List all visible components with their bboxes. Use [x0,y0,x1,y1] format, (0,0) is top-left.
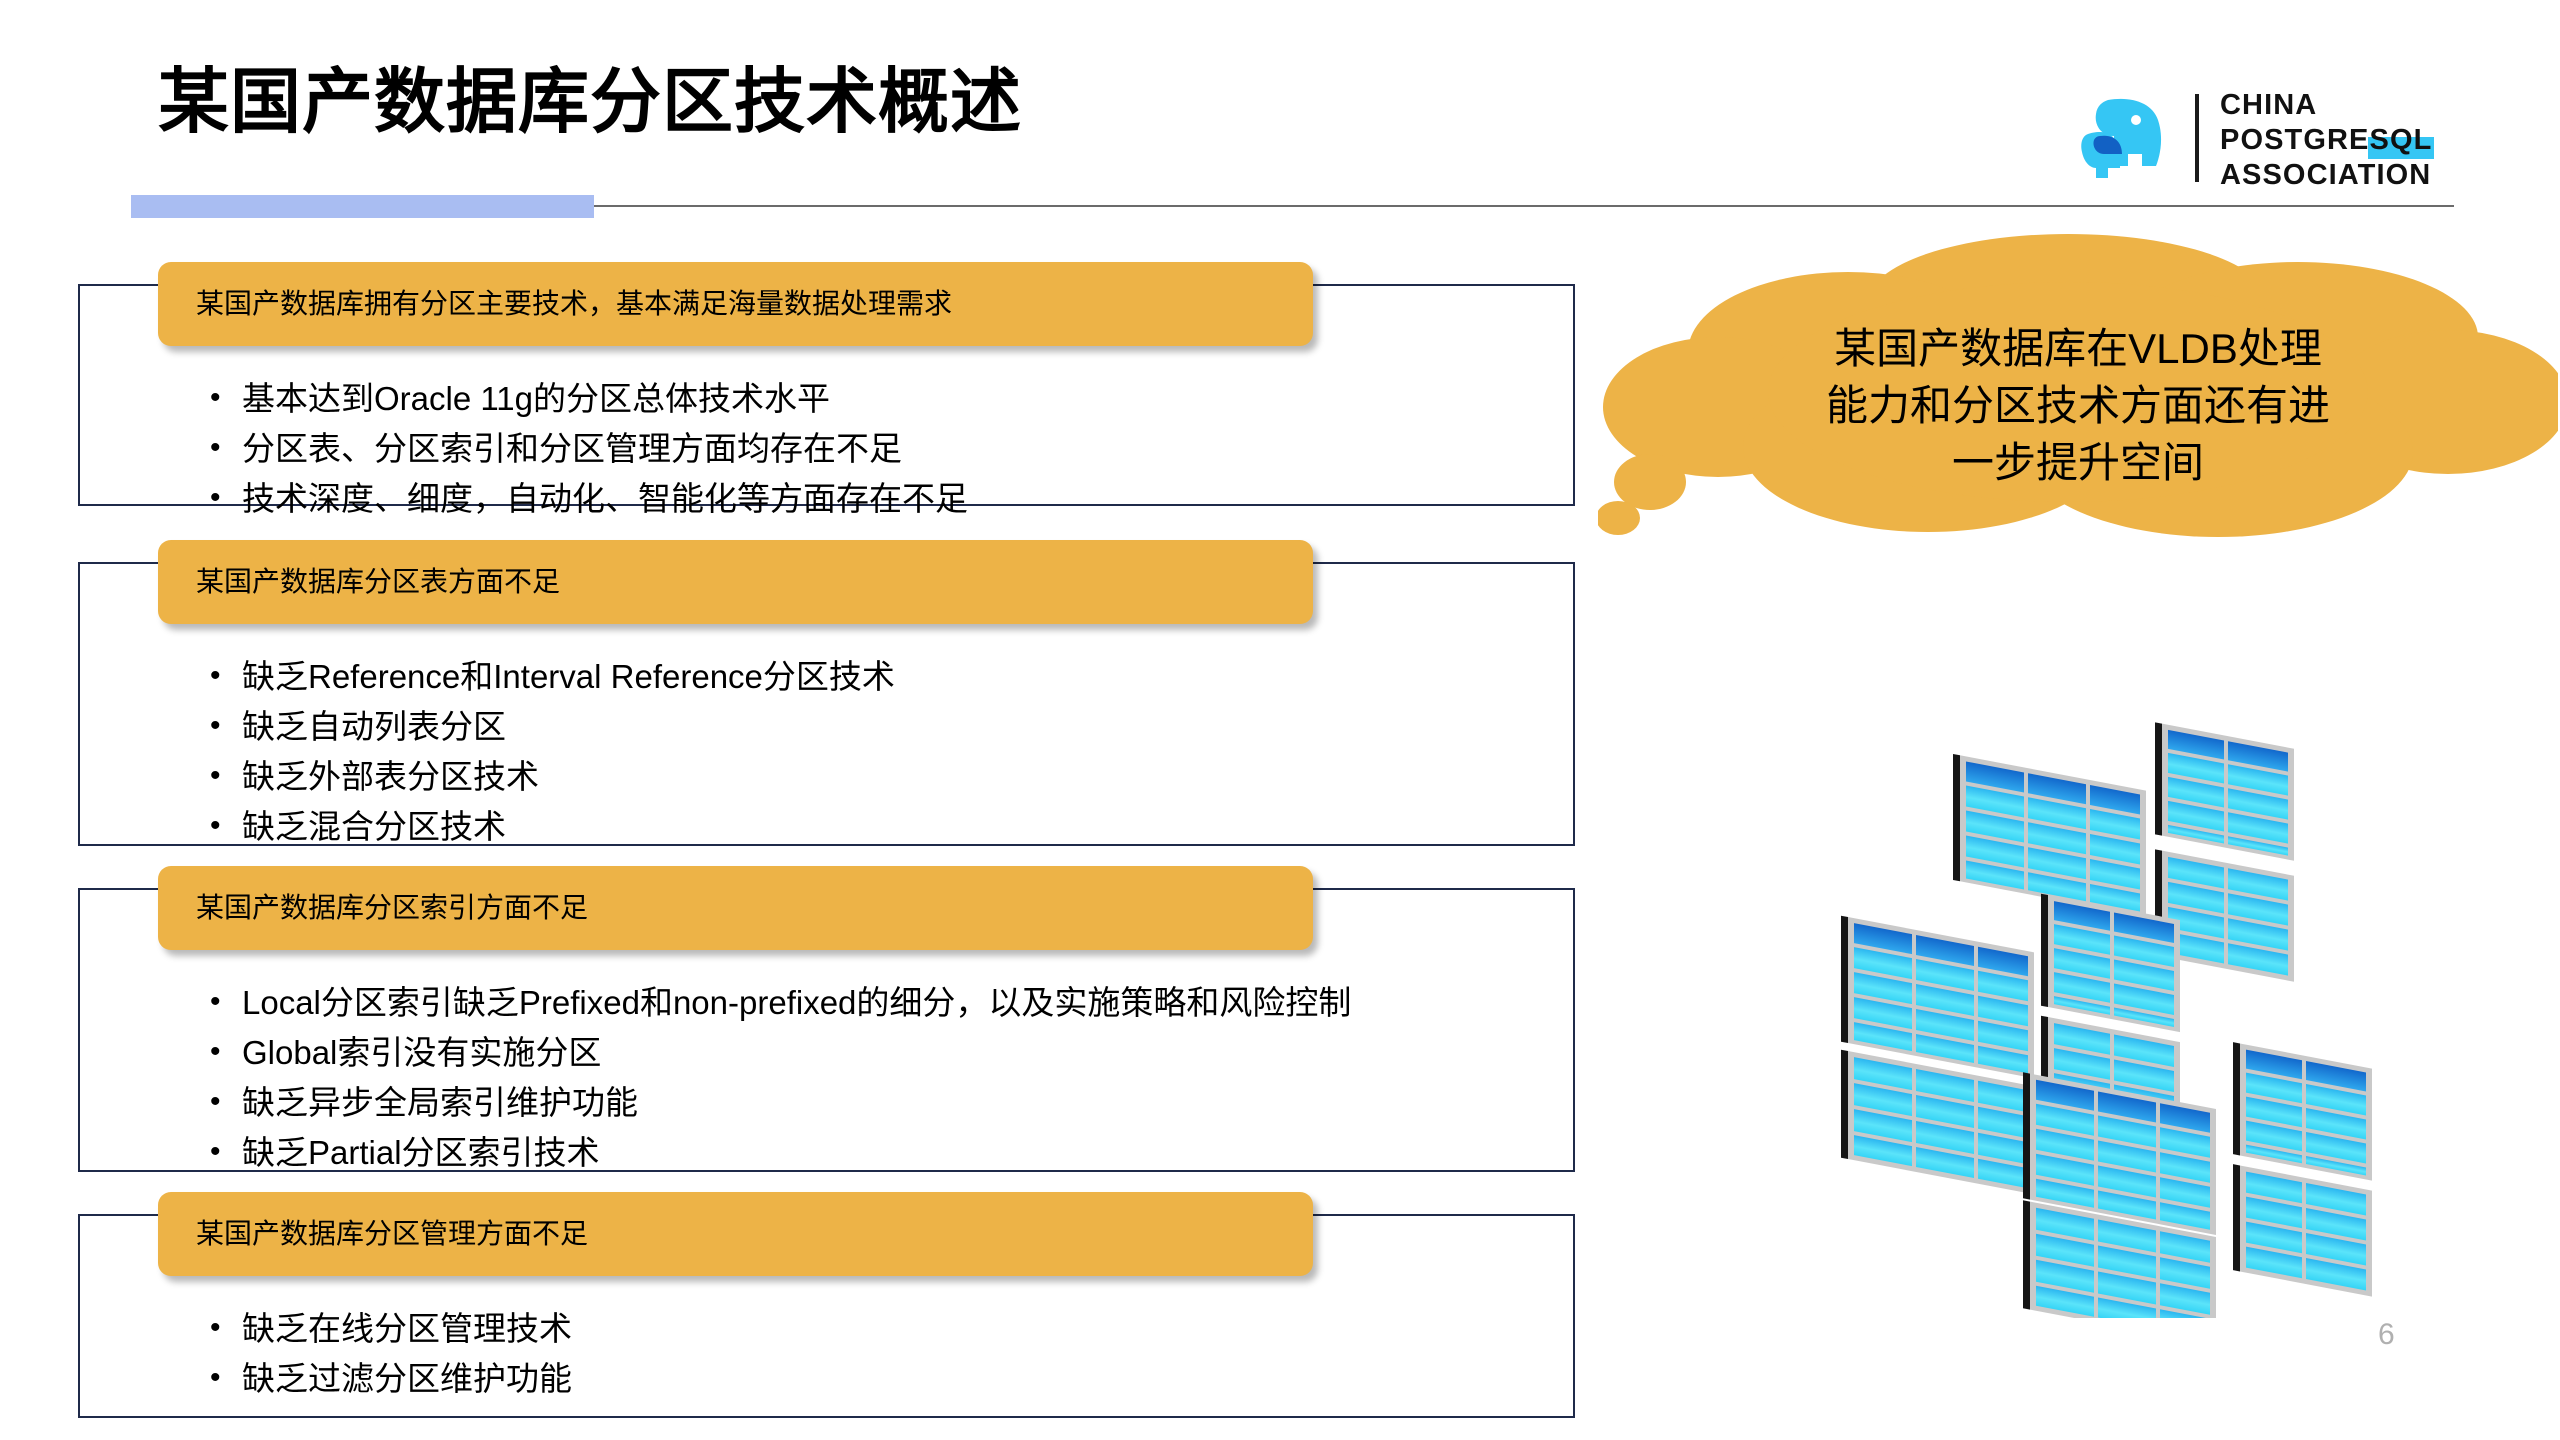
logo-line-3: ASSOCIATION [2220,158,2432,193]
section-bullet-list: 缺乏在线分区管理技术 缺乏过滤分区维护功能 [206,1304,572,1404]
cloud-callout-text: 某国产数据库在VLDB处理 能力和分区技术方面还有进 一步提升空间 [1598,320,2558,491]
list-item: Local分区索引缺乏Prefixed和non-prefixed的细分，以及实施… [206,978,1351,1027]
section-heading: 某国产数据库分区管理方面不足 [158,1192,1313,1276]
section-bullet-list: Local分区索引缺乏Prefixed和non-prefixed的细分，以及实施… [206,978,1351,1178]
slide: 某国产数据库分区技术概述 CHINA POSTGRESQL ASSOCIATIO… [0,0,2560,1440]
title-accent-bar [131,195,594,218]
table-panel [2155,722,2294,860]
list-item: 缺乏自动列表分区 [206,702,895,751]
section-heading: 某国产数据库分区表方面不足 [158,540,1313,624]
list-item: 缺乏异步全局索引维护功能 [206,1078,1351,1127]
logo-line-1: CHINA [2220,88,2432,123]
section-heading: 某国产数据库分区索引方面不足 [158,866,1313,950]
table-panel [1953,754,2146,917]
list-item: 缺乏过滤分区维护功能 [206,1354,572,1403]
table-panel [1841,916,2034,1079]
list-item: 技术深度、细度，自动化、智能化等方面存在不足 [206,474,968,523]
logo-divider [2195,94,2199,182]
section-bullet-list: 基本达到Oracle 11g的分区总体技术水平 分区表、分区索引和分区管理方面均… [206,374,968,524]
table-panel [2233,1042,2372,1180]
list-item: 缺乏在线分区管理技术 [206,1304,572,1353]
cloud-callout: 某国产数据库在VLDB处理 能力和分区技术方面还有进 一步提升空间 [1598,232,2558,552]
title-divider-rule [594,205,2454,207]
logo: CHINA POSTGRESQL ASSOCIATION [2078,88,2448,193]
list-item: 缺乏混合分区技术 [206,802,895,851]
isometric-tables-illustration [1790,628,2410,1318]
page-title: 某国产数据库分区技术概述 [158,62,1022,144]
elephant-logo-icon [2078,96,2173,181]
section-heading: 某国产数据库拥有分区主要技术，基本满足海量数据处理需求 [158,262,1313,346]
list-item: 缺乏Partial分区索引技术 [206,1128,1351,1177]
cloud-text-line: 某国产数据库在VLDB处理 [1598,320,2558,377]
page-number: 6 [2378,1318,2395,1352]
cloud-text-line: 能力和分区技术方面还有进 [1598,377,2558,434]
table-panel [2233,1164,2372,1296]
cloud-text-line: 一步提升空间 [1598,434,2558,491]
logo-line-2-pre: POSTGRE [2220,124,2370,156]
logo-wordmark: CHINA POSTGRESQL ASSOCIATION [2220,88,2432,193]
list-item: 缺乏外部表分区技术 [206,752,895,801]
logo-line-2: POSTGRESQL [2220,123,2432,158]
section-bullet-list: 缺乏Reference和Interval Reference分区技术 缺乏自动列… [206,652,895,852]
list-item: 分区表、分区索引和分区管理方面均存在不足 [206,424,968,473]
list-item: Global索引没有实施分区 [206,1028,1351,1077]
list-item: 缺乏Reference和Interval Reference分区技术 [206,652,895,701]
logo-line-2-highlight: SQL [2370,124,2433,156]
list-item: 基本达到Oracle 11g的分区总体技术水平 [206,374,968,423]
